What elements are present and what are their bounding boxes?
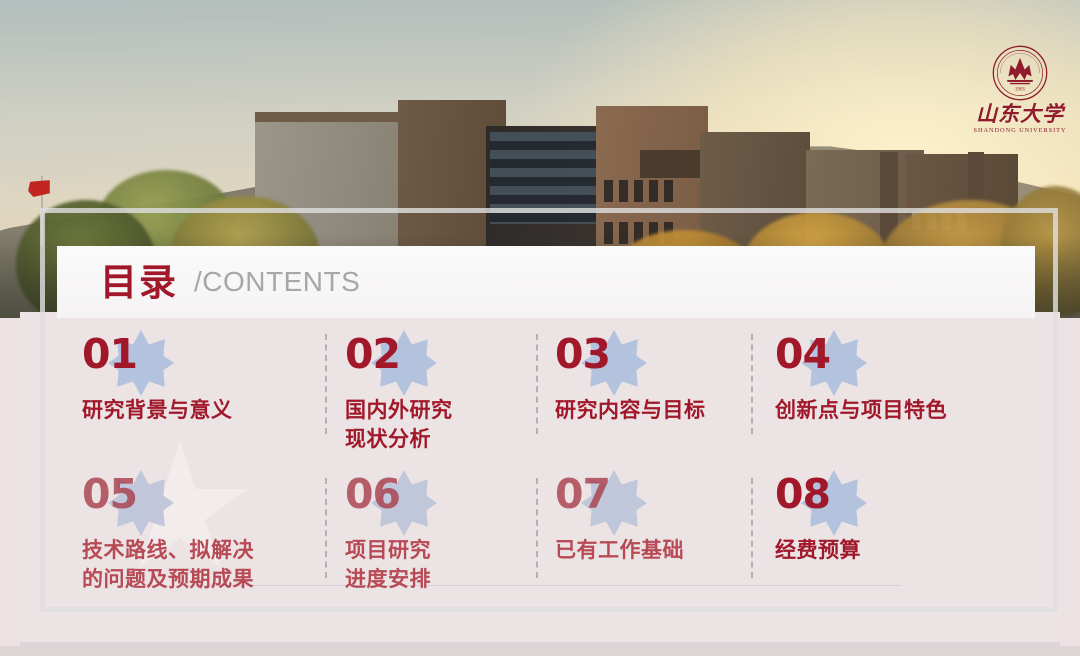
column-divider <box>536 334 538 434</box>
window <box>619 180 628 202</box>
bottom-edge-strip-inner <box>20 642 1060 646</box>
toc-number: 08 <box>775 474 830 515</box>
toc-number: 05 <box>82 474 137 515</box>
campus-building-a-roof <box>255 112 405 122</box>
page-title: 目录 <box>100 264 178 301</box>
toc-number-wrap: 01 <box>82 330 307 388</box>
column-divider <box>325 334 327 434</box>
contents-row-1: 01 研究背景与意义 02 国内外研究 现状分析 03 研究内容与目标 <box>0 330 1080 470</box>
toc-label: 已有工作基础 <box>555 536 755 565</box>
toc-number-wrap: 04 <box>775 330 1020 388</box>
column-divider <box>325 478 327 578</box>
contents-grid: 01 研究背景与意义 02 国内外研究 现状分析 03 研究内容与目标 <box>0 318 1080 648</box>
toc-number: 04 <box>775 334 830 375</box>
toc-label: 技术路线、拟解决 的问题及预期成果 <box>82 536 307 594</box>
window <box>634 180 643 202</box>
seal-year: 1901 <box>1015 86 1026 92</box>
toc-item-03[interactable]: 03 研究内容与目标 <box>555 330 755 470</box>
university-seal-icon: 1901 <box>991 44 1049 102</box>
university-name-en: SHANDONG UNIVERSITY <box>972 127 1068 134</box>
toc-number-wrap: 03 <box>555 330 755 388</box>
toc-label: 研究内容与目标 <box>555 396 755 425</box>
presentation-slide: 目录 /CONTENTS 01 研究背景与意义 02 国内外研究 现状分析 <box>0 0 1080 656</box>
university-logo: 1901 山东大学 SHANDONG UNIVERSITY <box>972 44 1068 144</box>
toc-item-01[interactable]: 01 研究背景与意义 <box>82 330 307 470</box>
toc-item-08[interactable]: 08 经费预算 <box>775 470 1020 610</box>
toc-number-wrap: 05 <box>82 470 307 528</box>
toc-number: 03 <box>555 334 610 375</box>
window <box>604 180 613 202</box>
bottom-edge-strip <box>0 646 1080 656</box>
column-divider <box>536 478 538 578</box>
toc-number: 07 <box>555 474 610 515</box>
toc-item-07[interactable]: 07 已有工作基础 <box>555 470 755 610</box>
toc-number-wrap: 07 <box>555 470 755 528</box>
toc-number-wrap: 08 <box>775 470 1020 528</box>
toc-number: 01 <box>82 334 137 375</box>
title-panel: 目录 /CONTENTS <box>57 246 1035 318</box>
toc-label: 创新点与项目特色 <box>775 396 1020 425</box>
toc-label: 研究背景与意义 <box>82 396 307 425</box>
toc-number: 02 <box>345 334 400 375</box>
toc-item-02[interactable]: 02 国内外研究 现状分析 <box>345 330 525 470</box>
building-canopy <box>640 150 704 178</box>
window-row-upper <box>604 180 673 202</box>
column-divider <box>751 478 753 578</box>
contents-row-2: 05 技术路线、拟解决 的问题及预期成果 06 项目研究 进度安排 07 已有工… <box>0 470 1080 610</box>
toc-label: 项目研究 进度安排 <box>345 536 525 594</box>
toc-number: 06 <box>345 474 400 515</box>
toc-label: 经费预算 <box>775 536 1020 565</box>
university-name-cn: 山东大学 <box>972 103 1068 124</box>
toc-number-wrap: 02 <box>345 330 525 388</box>
window <box>649 180 658 202</box>
column-divider <box>751 334 753 434</box>
toc-label: 国内外研究 现状分析 <box>345 396 525 454</box>
window <box>664 180 673 202</box>
toc-number-wrap: 06 <box>345 470 525 528</box>
page-title-en: /CONTENTS <box>194 268 360 296</box>
toc-item-05[interactable]: 05 技术路线、拟解决 的问题及预期成果 <box>82 470 307 610</box>
toc-item-06[interactable]: 06 项目研究 进度安排 <box>345 470 525 610</box>
toc-item-04[interactable]: 04 创新点与项目特色 <box>775 330 1020 470</box>
